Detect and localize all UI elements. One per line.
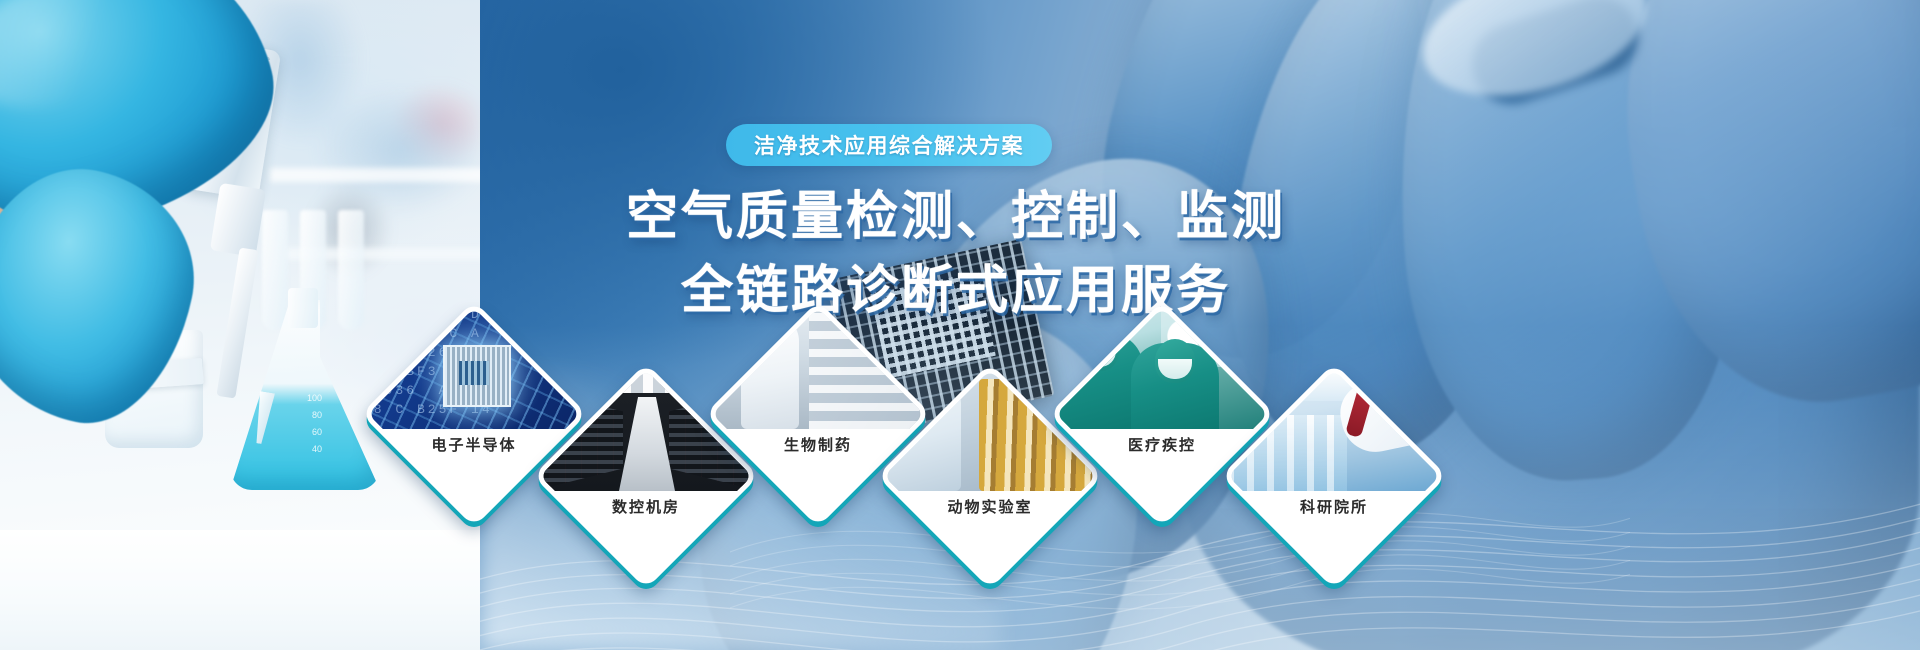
test-tube <box>262 210 288 330</box>
lab-shelf <box>270 168 480 182</box>
badge-tagline: 洁净技术应用综合解决方案 <box>726 124 1052 166</box>
left-lab-photo: 100806040 <box>0 0 480 650</box>
hero-banner: 100806040 <box>0 0 1920 650</box>
test-tube <box>338 210 364 330</box>
lab-bench <box>0 530 480 650</box>
page-title: 空气质量检测、控制、监测 全链路诊断式应用服务 <box>576 180 1336 328</box>
flask-graduation-marks: 100806040 <box>288 390 322 480</box>
flask-neck <box>288 288 318 328</box>
headline-line-1: 空气质量检测、控制、监测 <box>576 180 1336 254</box>
chip-core-icon <box>459 361 489 385</box>
headline-line-2: 全链路诊断式应用服务 <box>576 254 1336 328</box>
